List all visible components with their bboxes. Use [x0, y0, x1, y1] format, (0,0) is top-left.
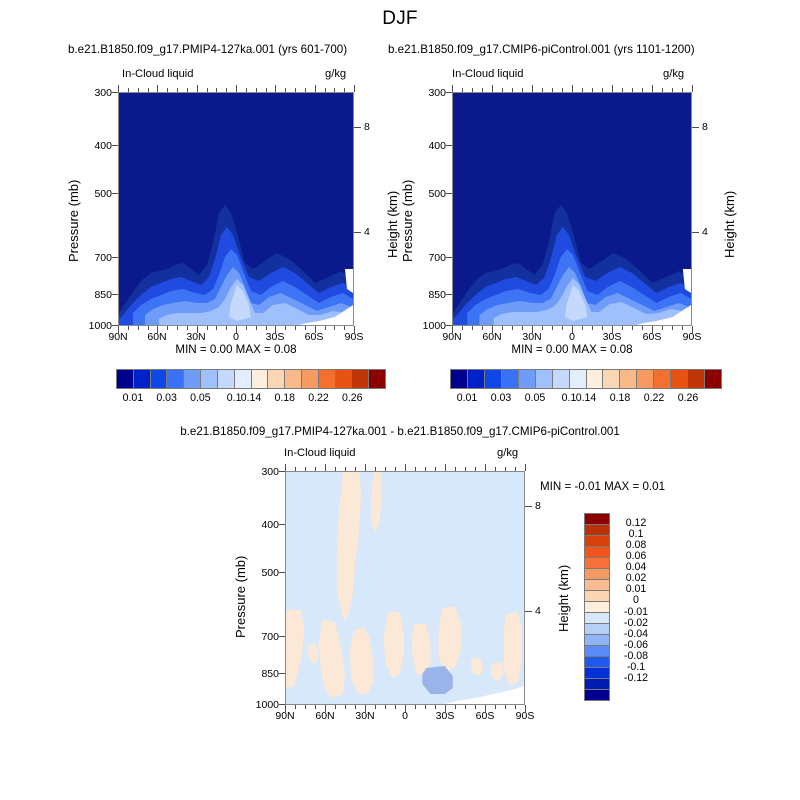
colorbar-label-0.03: 0.03	[485, 392, 517, 404]
diff-ytick-mark-700	[279, 636, 285, 637]
diff-panel-x-top-major-tick-2	[365, 464, 366, 471]
left-panel-x-minor-tick-4-2	[295, 326, 296, 330]
right-panel-x-major-tick-5	[652, 326, 653, 333]
diff-colorbar-swatch-5[interactable]	[585, 569, 609, 580]
diff-height-tick-mark-8	[525, 506, 532, 507]
diff-panel-x-top-minor-tick-4-2	[465, 467, 466, 471]
left-panel-x-minor-tick-0-2	[138, 326, 139, 330]
right-ytick-mark-850	[446, 294, 452, 295]
right-panel-x-top-major-tick-4	[612, 85, 613, 92]
left-panel-x-top-minor-tick-1-2	[177, 88, 178, 92]
right-panel-x-minor-tick-4-2	[632, 326, 633, 330]
right-ytick-mark-700	[446, 257, 452, 258]
diff-panel-x-minor-tick-4-2	[465, 705, 466, 709]
right-panel-x-minor-tick-4-3	[642, 326, 643, 330]
right-colorbar-labels: 0.010.030.050.10.140.180.220.26	[450, 392, 722, 406]
right-panel-minmax: MIN = 0.00 MAX = 0.08	[452, 343, 692, 356]
right-panel-x-minor-tick-2-1	[542, 326, 543, 330]
diff-panel-x-minor-tick-0-3	[315, 705, 316, 709]
diff-panel-x-minor-tick-0-1	[295, 705, 296, 709]
diff-panel-x-minor-tick-3-2	[425, 705, 426, 709]
diff-panel-header-variable: In-Cloud liquid	[284, 447, 356, 459]
diff-panel-ytick-700: 700	[251, 631, 279, 643]
left-panel-x-top-minor-tick-0-2	[138, 88, 139, 92]
diff-panel-x-major-tick-6	[525, 705, 526, 712]
right-panel-ytick-500: 500	[418, 188, 446, 200]
left-panel-x-minor-tick-4-1	[285, 326, 286, 330]
right-panel-ylabel: Pressure (mb)	[400, 180, 415, 262]
right-panel-ytick-700: 700	[418, 252, 446, 264]
right-panel-x-top-minor-tick-3-1	[582, 88, 583, 92]
diff-panel-x-minor-tick-2-3	[395, 705, 396, 709]
colorbar-swatch-7[interactable]	[570, 370, 587, 388]
diff-colorbar-swatch-15[interactable]	[585, 679, 609, 690]
right-height-tick-mark-4	[692, 232, 699, 233]
colorbar-swatch-15[interactable]	[369, 370, 385, 388]
diff-colorbar-swatch-9[interactable]	[585, 613, 609, 624]
left-height-tick-mark-4	[354, 232, 361, 233]
left-height-tick-8: 8	[364, 121, 370, 133]
left-panel-x-top-minor-tick-3-3	[266, 88, 267, 92]
right-panel-x-top-minor-tick-5-1	[662, 88, 663, 92]
diff-panel-x-minor-tick-5-1	[495, 705, 496, 709]
left-panel-x-major-tick-1	[157, 326, 158, 333]
right-panel-plot	[452, 92, 692, 326]
colorbar-swatch-0[interactable]	[451, 370, 468, 388]
colorbar-label-0.01: 0.01	[451, 392, 483, 404]
diff-panel-x-top-minor-tick-2-2	[385, 467, 386, 471]
diff-panel-x-top-minor-tick-3-2	[425, 467, 426, 471]
right-panel-ytick-850: 850	[418, 289, 446, 301]
right-panel-x-top-minor-tick-5-3	[682, 88, 683, 92]
diff-panel-x-minor-tick-2-2	[385, 705, 386, 709]
left-panel-x-top-minor-tick-3-2	[256, 88, 257, 92]
right-panel-x-major-tick-3	[572, 326, 573, 333]
left-ytick-mark-700	[112, 257, 118, 258]
diff-panel-ytick-400: 400	[251, 519, 279, 531]
left-panel-x-major-tick-5	[315, 326, 316, 333]
right-panel-x-major-tick-6	[692, 326, 693, 333]
diff-ytick-mark-500	[279, 572, 285, 573]
diff-panel-x-top-major-tick-5	[485, 464, 486, 471]
left-height-tick-4: 4	[364, 226, 370, 238]
left-panel-x-top-minor-tick-5-2	[334, 88, 335, 92]
diff-panel-x-minor-tick-1-1	[335, 705, 336, 709]
left-panel-plot	[118, 92, 354, 326]
diff-colorbar-swatch-0[interactable]	[585, 514, 609, 525]
colorbar-swatch-6[interactable]	[553, 370, 570, 388]
right-panel-x-minor-tick-1-1	[502, 326, 503, 330]
diff-panel-x-top-minor-tick-0-3	[315, 467, 316, 471]
left-panel-ylabel: Pressure (mb)	[66, 180, 81, 262]
right-panel-x-top-minor-tick-4-3	[642, 88, 643, 92]
colorbar-label-0.22: 0.22	[303, 392, 335, 404]
diff-panel-x-top-minor-tick-1-3	[355, 467, 356, 471]
right-panel-x-top-minor-tick-2-3	[562, 88, 563, 92]
right-panel-x-top-minor-tick-3-2	[592, 88, 593, 92]
diff-panel-x-minor-tick-0-2	[305, 705, 306, 709]
left-panel-x-minor-tick-5-3	[344, 326, 345, 330]
colorbar-swatch-12[interactable]	[319, 370, 336, 388]
diff-panel-ytick-850: 850	[251, 668, 279, 680]
diff-panel-x-top-minor-tick-3-1	[415, 467, 416, 471]
diff-panel-x-top-major-tick-4	[445, 464, 446, 471]
left-panel-x-minor-tick-3-1	[246, 326, 247, 330]
diff-colorbar-swatch-12[interactable]	[585, 646, 609, 657]
left-panel-x-minor-tick-1-3	[187, 326, 188, 330]
diff-panel-x-top-minor-tick-4-3	[475, 467, 476, 471]
left-panel-ytick-300: 300	[84, 87, 112, 99]
right-panel-x-top-minor-tick-2-2	[552, 88, 553, 92]
left-panel-x-minor-tick-0-1	[128, 326, 129, 330]
left-panel-x-major-tick-4	[275, 326, 276, 333]
colorbar-swatch-13[interactable]	[671, 370, 688, 388]
diff-panel-x-top-minor-tick-2-1	[375, 467, 376, 471]
right-panel-x-top-major-tick-5	[652, 85, 653, 92]
right-ytick-mark-500	[446, 193, 452, 194]
diff-panel-x-minor-tick-4-3	[475, 705, 476, 709]
right-panel-x-top-minor-tick-1-1	[502, 88, 503, 92]
right-panel-x-top-minor-tick-0-2	[472, 88, 473, 92]
colorbar-swatch-4[interactable]	[184, 370, 201, 388]
diff-ytick-mark-850	[279, 673, 285, 674]
diff-panel-x-top-major-tick-0	[285, 464, 286, 471]
diff-panel-ytick-500: 500	[251, 567, 279, 579]
colorbar-swatch-13[interactable]	[336, 370, 353, 388]
diff-panel-x-top-minor-tick-1-2	[345, 467, 346, 471]
diff-panel-x-top-minor-tick-5-1	[495, 467, 496, 471]
colorbar-swatch-7[interactable]	[235, 370, 252, 388]
colorbar-swatch-2[interactable]	[485, 370, 502, 388]
colorbar-swatch-5[interactable]	[201, 370, 218, 388]
right-panel-x-minor-tick-5-3	[682, 326, 683, 330]
left-panel-x-top-minor-tick-1-1	[167, 88, 168, 92]
diff-panel-x-top-minor-tick-1-1	[335, 467, 336, 471]
left-panel-x-top-major-tick-3	[236, 85, 237, 92]
right-panel-x-major-tick-1	[492, 326, 493, 333]
diff-panel-x-minor-tick-1-3	[355, 705, 356, 709]
colorbar-swatch-8[interactable]	[587, 370, 604, 388]
right-panel-x-minor-tick-2-2	[552, 326, 553, 330]
colorbar-swatch-1[interactable]	[468, 370, 485, 388]
left-panel-x-top-minor-tick-2-3	[226, 88, 227, 92]
right-panel-x-minor-tick-2-3	[562, 326, 563, 330]
diff-colorbar[interactable]	[584, 513, 610, 701]
left-panel-x-top-minor-tick-2-2	[216, 88, 217, 92]
diff-panel-x-minor-tick-3-1	[415, 705, 416, 709]
right-panel-x-top-minor-tick-4-2	[632, 88, 633, 92]
right-panel-x-minor-tick-3-1	[582, 326, 583, 330]
left-panel-x-top-major-tick-2	[197, 85, 198, 92]
right-panel-ylabel-right: Height (km)	[722, 191, 737, 258]
left-panel-ytick-500: 500	[84, 188, 112, 200]
right-panel-x-major-tick-4	[612, 326, 613, 333]
diff-panel-ytick-300: 300	[251, 466, 279, 478]
left-panel-x-top-minor-tick-0-1	[128, 88, 129, 92]
colorbar-swatch-6[interactable]	[218, 370, 235, 388]
diff-ytick-mark-300	[279, 471, 285, 472]
left-panel-x-major-tick-6	[354, 326, 355, 333]
left-panel-x-minor-tick-3-2	[256, 326, 257, 330]
left-panel-x-major-tick-2	[197, 326, 198, 333]
left-panel-x-minor-tick-2-1	[207, 326, 208, 330]
left-panel-x-minor-tick-5-2	[334, 326, 335, 330]
diff-panel-header-units: g/kg	[497, 447, 518, 459]
left-panel-x-minor-tick-1-1	[167, 326, 168, 330]
right-panel-title: b.e21.B1850.f09_g17.CMIP6-piControl.001 …	[388, 43, 695, 56]
left-panel-x-top-minor-tick-1-3	[187, 88, 188, 92]
diff-panel-x-top-minor-tick-5-3	[515, 467, 516, 471]
diff-panel-x-major-tick-0	[285, 705, 286, 712]
colorbar-swatch-11[interactable]	[637, 370, 654, 388]
left-panel-x-minor-tick-4-3	[305, 326, 306, 330]
colorbar-label-0.14: 0.14	[235, 392, 267, 404]
right-panel-ytick-300: 300	[418, 87, 446, 99]
colorbar-swatch-10[interactable]	[620, 370, 637, 388]
colorbar-swatch-0[interactable]	[117, 370, 134, 388]
colorbar-swatch-9[interactable]	[603, 370, 620, 388]
diff-colorbar-swatch-4[interactable]	[585, 558, 609, 569]
right-height-tick-8: 8	[702, 121, 708, 133]
left-panel-x-top-minor-tick-2-1	[207, 88, 208, 92]
diff-panel-x-top-major-tick-3	[405, 464, 406, 471]
diff-panel-x-minor-tick-4-1	[455, 705, 456, 709]
left-ytick-mark-300	[112, 92, 118, 93]
diff-panel-x-major-tick-4	[445, 705, 446, 712]
colorbar-label-0.03: 0.03	[151, 392, 183, 404]
diff-panel-x-top-minor-tick-5-2	[505, 467, 506, 471]
left-panel-x-top-minor-tick-5-3	[344, 88, 345, 92]
diff-panel-x-minor-tick-5-2	[505, 705, 506, 709]
right-ytick-mark-400	[446, 145, 452, 146]
left-panel-ytick-400: 400	[84, 140, 112, 152]
diff-panel-ylabel-right: Height (km)	[556, 565, 571, 632]
left-panel-x-minor-tick-5-1	[325, 326, 326, 330]
colorbar-label-0.18: 0.18	[269, 392, 301, 404]
left-panel-minmax: MIN = 0.00 MAX = 0.08	[118, 343, 354, 356]
diff-panel-x-top-minor-tick-4-1	[455, 467, 456, 471]
diff-panel-x-top-minor-tick-2-3	[395, 467, 396, 471]
right-panel-x-minor-tick-4-1	[622, 326, 623, 330]
right-panel-x-major-tick-0	[452, 326, 453, 333]
diff-panel-x-top-minor-tick-3-3	[435, 467, 436, 471]
colorbar-swatch-5[interactable]	[536, 370, 553, 388]
left-panel-title: b.e21.B1850.f09_g17.PMIP4-127ka.001 (yrs…	[68, 43, 347, 56]
diff-colorbar-swatch-13[interactable]	[585, 657, 609, 668]
diff-panel-x-top-major-tick-6	[525, 464, 526, 471]
colorbar-swatch-11[interactable]	[302, 370, 319, 388]
right-panel-x-minor-tick-5-2	[672, 326, 673, 330]
right-panel-x-top-major-tick-3	[572, 85, 573, 92]
diff-panel-x-major-tick-1	[325, 705, 326, 712]
diff-colorbar-swatch-16[interactable]	[585, 690, 609, 700]
right-height-tick-mark-8	[692, 127, 699, 128]
page-title: DJF	[0, 8, 800, 30]
diff-panel-x-minor-tick-2-1	[375, 705, 376, 709]
right-panel-x-top-major-tick-2	[532, 85, 533, 92]
diff-colorbar-swatch-11[interactable]	[585, 635, 609, 646]
right-panel-x-top-minor-tick-0-1	[462, 88, 463, 92]
diff-colorbar-swatch-8[interactable]	[585, 602, 609, 613]
diff-panel-x-major-tick-5	[485, 705, 486, 712]
left-panel-x-top-major-tick-6	[354, 85, 355, 92]
right-panel-x-top-minor-tick-1-2	[512, 88, 513, 92]
right-panel-x-minor-tick-5-1	[662, 326, 663, 330]
left-panel-x-top-minor-tick-3-1	[246, 88, 247, 92]
colorbar-swatch-2[interactable]	[151, 370, 168, 388]
diff-colorbar-swatch-1[interactable]	[585, 525, 609, 536]
right-panel-header-units: g/kg	[663, 68, 684, 80]
left-panel-x-top-minor-tick-4-3	[305, 88, 306, 92]
diff-panel-ylabel: Pressure (mb)	[233, 556, 248, 638]
diff-panel-x-major-tick-2	[365, 705, 366, 712]
right-panel-x-top-minor-tick-3-3	[602, 88, 603, 92]
left-panel-header-units: g/kg	[325, 68, 346, 80]
left-panel-ytick-700: 700	[84, 252, 112, 264]
diff-height-tick-mark-4	[525, 611, 532, 612]
diff-colorbar-swatch-2[interactable]	[585, 536, 609, 547]
colorbar-label-0.26: 0.26	[336, 392, 368, 404]
colorbar-label-0.18: 0.18	[604, 392, 636, 404]
left-panel-x-top-major-tick-5	[315, 85, 316, 92]
colorbar-swatch-3[interactable]	[167, 370, 184, 388]
diff-height-tick-4: 4	[535, 605, 541, 617]
diff-colorbar-swatch-14[interactable]	[585, 668, 609, 679]
diff-panel-minmax: MIN = -0.01 MAX = 0.01	[540, 480, 750, 493]
left-ytick-mark-500	[112, 193, 118, 194]
left-panel-x-top-major-tick-0	[118, 85, 119, 92]
left-panel-x-minor-tick-3-3	[266, 326, 267, 330]
right-colorbar[interactable]	[450, 369, 722, 389]
colorbar-label-0.22: 0.22	[638, 392, 670, 404]
right-panel-x-top-minor-tick-4-1	[622, 88, 623, 92]
colorbar-swatch-12[interactable]	[654, 370, 671, 388]
left-ytick-mark-850	[112, 294, 118, 295]
left-panel-x-minor-tick-2-3	[226, 326, 227, 330]
diff-panel-x-top-minor-tick-0-1	[295, 467, 296, 471]
colorbar-swatch-14[interactable]	[352, 370, 369, 388]
diff-colorbar-swatch-10[interactable]	[585, 624, 609, 635]
right-panel-x-top-minor-tick-5-2	[672, 88, 673, 92]
right-panel-x-major-tick-2	[532, 326, 533, 333]
left-panel-x-top-minor-tick-5-1	[325, 88, 326, 92]
right-panel-x-top-minor-tick-1-3	[522, 88, 523, 92]
diff-panel-x-top-major-tick-1	[325, 464, 326, 471]
colorbar-swatch-4[interactable]	[519, 370, 536, 388]
colorbar-label-0.14: 0.14	[570, 392, 602, 404]
left-panel-x-top-minor-tick-4-2	[295, 88, 296, 92]
left-height-tick-mark-8	[354, 127, 361, 128]
left-panel-x-top-major-tick-1	[157, 85, 158, 92]
left-panel-ylabel-right: Height (km)	[385, 191, 400, 258]
right-panel-x-minor-tick-3-2	[592, 326, 593, 330]
diff-colorbar-label-14: -0.12	[614, 672, 658, 684]
colorbar-swatch-14[interactable]	[688, 370, 705, 388]
right-panel-x-minor-tick-0-3	[482, 326, 483, 330]
right-panel-x-minor-tick-0-1	[462, 326, 463, 330]
left-panel-ytick-850: 850	[84, 289, 112, 301]
colorbar-label-0.05: 0.05	[519, 392, 551, 404]
right-panel-x-minor-tick-1-3	[522, 326, 523, 330]
right-panel-ytick-400: 400	[418, 140, 446, 152]
left-panel-x-top-major-tick-4	[275, 85, 276, 92]
colorbar-swatch-10[interactable]	[285, 370, 302, 388]
left-panel-x-minor-tick-2-2	[216, 326, 217, 330]
diff-panel-title: b.e21.B1850.f09_g17.PMIP4-127ka.001 - b.…	[0, 425, 800, 438]
diff-colorbar-swatch-7[interactable]	[585, 591, 609, 602]
diff-colorbar-labels: 0.120.10.080.060.040.020.010-0.01-0.02-0…	[614, 513, 674, 701]
diff-colorbar-swatch-3[interactable]	[585, 547, 609, 558]
right-ytick-mark-300	[446, 92, 452, 93]
right-panel-x-top-minor-tick-0-3	[482, 88, 483, 92]
left-colorbar-labels: 0.010.030.050.10.140.180.220.26	[116, 392, 386, 406]
right-panel-x-minor-tick-0-2	[472, 326, 473, 330]
diff-colorbar-swatch-6[interactable]	[585, 580, 609, 591]
left-panel-header-variable: In-Cloud liquid	[122, 68, 194, 80]
diff-panel-x-top-minor-tick-0-2	[305, 467, 306, 471]
diff-height-tick-8: 8	[535, 500, 541, 512]
left-panel-x-major-tick-3	[236, 326, 237, 333]
colorbar-swatch-8[interactable]	[252, 370, 269, 388]
right-panel-x-top-major-tick-0	[452, 85, 453, 92]
right-height-tick-4: 4	[702, 226, 708, 238]
right-panel-x-minor-tick-1-2	[512, 326, 513, 330]
right-panel-x-minor-tick-3-3	[602, 326, 603, 330]
diff-panel-x-minor-tick-3-3	[435, 705, 436, 709]
colorbar-label-0.26: 0.26	[672, 392, 704, 404]
colorbar-label-0.01: 0.01	[117, 392, 149, 404]
colorbar-swatch-3[interactable]	[502, 370, 519, 388]
diff-ytick-mark-400	[279, 524, 285, 525]
right-panel-x-top-minor-tick-2-1	[542, 88, 543, 92]
colorbar-swatch-1[interactable]	[134, 370, 151, 388]
left-panel-x-top-minor-tick-0-3	[148, 88, 149, 92]
colorbar-swatch-15[interactable]	[705, 370, 721, 388]
diff-panel-x-major-tick-3	[405, 705, 406, 712]
diff-panel-x-minor-tick-1-2	[345, 705, 346, 709]
colorbar-label-0.05: 0.05	[184, 392, 216, 404]
right-panel-header-variable: In-Cloud liquid	[452, 68, 524, 80]
left-panel-x-minor-tick-0-3	[148, 326, 149, 330]
left-ytick-mark-400	[112, 145, 118, 146]
left-panel-x-top-minor-tick-4-1	[285, 88, 286, 92]
diff-panel-x-minor-tick-5-3	[515, 705, 516, 709]
right-panel-x-top-major-tick-6	[692, 85, 693, 92]
colorbar-swatch-9[interactable]	[268, 370, 285, 388]
left-panel-x-major-tick-0	[118, 326, 119, 333]
left-colorbar[interactable]	[116, 369, 386, 389]
right-panel-x-top-major-tick-1	[492, 85, 493, 92]
left-panel-x-minor-tick-1-2	[177, 326, 178, 330]
diff-panel-plot	[285, 471, 525, 705]
